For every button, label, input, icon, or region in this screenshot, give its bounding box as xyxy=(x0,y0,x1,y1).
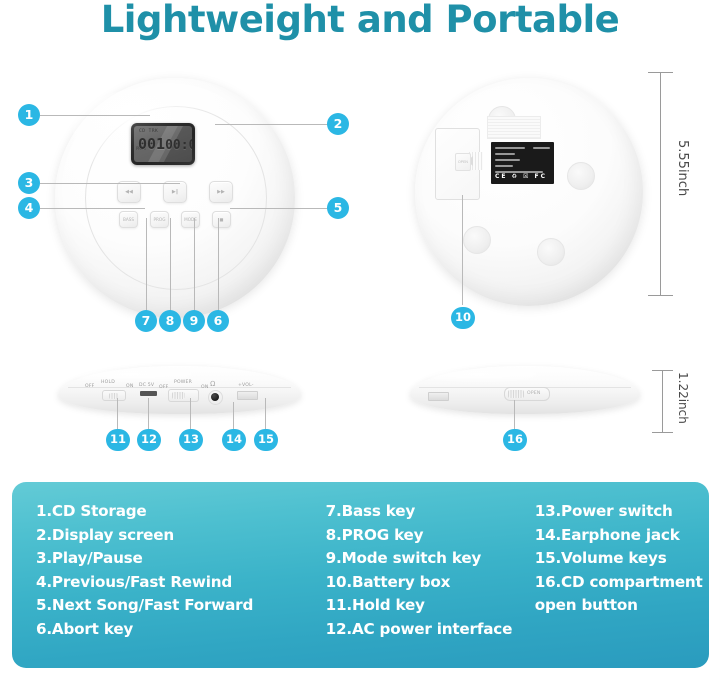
callout-4[interactable]: 4 xyxy=(18,197,40,219)
leader-line-5 xyxy=(230,208,330,209)
side-view-open-button: OPEN xyxy=(410,366,640,414)
spec-label-line-2 xyxy=(495,153,515,155)
dimension-line-thickness xyxy=(662,370,663,432)
leader-line-2 xyxy=(215,124,335,125)
leader-line-11 xyxy=(117,398,118,430)
dimension-label-thickness: 1.22inch xyxy=(676,372,690,424)
legend-item: 14.Earphone jack xyxy=(535,524,709,548)
power-switch-knob[interactable] xyxy=(172,392,185,399)
dimension-tick-bottom xyxy=(648,295,673,296)
legend-item: 9.Mode switch key xyxy=(326,547,535,571)
foot-pad-bottom xyxy=(537,238,565,266)
callout-14[interactable]: 14 xyxy=(222,429,246,451)
callout-15[interactable]: 15 xyxy=(254,429,278,451)
front-view-illustration: CD TRK PROG 00100:00 ◀◀ ▶‖ ▶▶ BASS PROG … xyxy=(55,78,295,318)
callout-8[interactable]: 8 xyxy=(159,310,181,332)
leader-line-12 xyxy=(148,398,149,430)
leader-line-9 xyxy=(194,218,195,313)
legend-item: 16.CD compartment open button xyxy=(535,571,709,618)
callout-13[interactable]: 13 xyxy=(179,429,203,451)
label-power-on: ON xyxy=(201,385,208,390)
button-previous-fast-rewind[interactable]: ◀◀ xyxy=(117,181,141,203)
legend-item: 6.Abort key xyxy=(36,618,326,642)
button-prog[interactable]: PROG xyxy=(150,211,169,228)
leader-line-3 xyxy=(40,183,180,184)
lcd-screen: CD TRK PROG 00100:00 xyxy=(134,126,192,162)
dimension-line-height xyxy=(660,72,661,296)
legend-item: 4.Previous/Fast Rewind xyxy=(36,571,326,595)
label-hold: HOLD xyxy=(101,380,115,385)
leader-line-1 xyxy=(40,115,150,116)
leader-line-4 xyxy=(40,208,145,209)
hold-switch[interactable] xyxy=(102,390,126,401)
callout-3[interactable]: 3 xyxy=(18,172,40,194)
infographic-page: Lightweight and Portable CD TRK PROG 001… xyxy=(0,0,720,680)
dimension-tick-top xyxy=(648,72,673,73)
legend-item: 13.Power switch xyxy=(535,500,709,524)
spec-label-line-1b xyxy=(533,147,550,149)
legend-item: 5.Next Song/Fast Forward xyxy=(36,594,326,618)
button-play-pause[interactable]: ▶‖ xyxy=(163,181,187,203)
callout-2[interactable]: 2 xyxy=(327,113,349,135)
back-view-illustration: OPEN CE ♻ ☒ FC xyxy=(415,78,643,306)
cd-open-slider[interactable]: OPEN xyxy=(504,387,550,401)
lcd-time: 00:00 xyxy=(165,138,192,153)
dimension-tick-top-2 xyxy=(652,370,673,371)
legend-item: 12.AC power interface xyxy=(326,618,535,642)
legend-item: 15.Volume keys xyxy=(535,547,709,571)
label-open: OPEN xyxy=(527,391,541,396)
leader-line-16 xyxy=(514,400,515,430)
side2-usb-port[interactable] xyxy=(428,392,449,401)
callout-5[interactable]: 5 xyxy=(327,197,349,219)
dimension-label-diameter: 5.55inch xyxy=(675,140,690,196)
spec-label-line-1 xyxy=(495,147,525,149)
legend-column-1: 1.CD Storage 2.Display screen 3.Play/Pau… xyxy=(12,500,326,668)
label-power: POWER xyxy=(174,380,192,385)
legend-item: 3.Play/Pause xyxy=(36,547,326,571)
callout-1[interactable]: 1 xyxy=(18,104,40,126)
button-bass[interactable]: BASS xyxy=(119,211,138,228)
certification-symbols: CE ♻ ☒ FC xyxy=(495,173,547,180)
leader-line-10 xyxy=(462,195,463,305)
legend-column-2: 7.Bass key 8.PROG key 9.Mode switch key … xyxy=(326,500,535,668)
earphone-jack[interactable] xyxy=(211,393,219,401)
foot-pad-right xyxy=(567,162,595,190)
legend-item: 7.Bass key xyxy=(326,500,535,524)
button-mode[interactable]: MODE xyxy=(181,211,200,228)
leader-line-15 xyxy=(265,398,266,430)
foot-pad-left xyxy=(463,226,491,254)
headphone-icon: Ω xyxy=(210,380,215,388)
page-title: Lightweight and Portable xyxy=(0,0,720,41)
battery-latch[interactable]: OPEN xyxy=(455,153,471,171)
spec-label: CE ♻ ☒ FC xyxy=(491,142,554,184)
lcd-top-indicator: CD TRK xyxy=(139,129,158,134)
callout-10[interactable]: 10 xyxy=(451,307,475,329)
legend-item: 1.CD Storage xyxy=(36,500,326,524)
lcd-readout: 00100:00 xyxy=(138,135,192,153)
label-power-off: OFF xyxy=(159,385,169,390)
legend-columns: 1.CD Storage 2.Display screen 3.Play/Pau… xyxy=(12,500,709,668)
battery-compartment[interactable]: OPEN xyxy=(435,128,480,200)
legend-item: 2.Display screen xyxy=(36,524,326,548)
legend-item: 11.Hold key xyxy=(326,594,535,618)
leader-line-8 xyxy=(170,218,171,313)
legend-column-3: 13.Power switch 14.Earphone jack 15.Volu… xyxy=(535,500,709,668)
legend-item: 8.PROG key xyxy=(326,524,535,548)
spec-label-line-4 xyxy=(495,165,513,167)
leader-line-6 xyxy=(218,218,219,313)
dimension-tick-bottom-2 xyxy=(652,432,673,433)
side-seam-1 xyxy=(68,387,292,388)
leader-line-7 xyxy=(146,218,147,313)
power-switch[interactable] xyxy=(168,389,199,402)
lcd-display: CD TRK PROG 00100:00 xyxy=(131,123,195,165)
callout-12[interactable]: 12 xyxy=(137,429,161,451)
label-hold-off: OFF xyxy=(85,384,95,389)
spec-label-line-3 xyxy=(495,159,520,161)
callout-11[interactable]: 11 xyxy=(106,429,130,451)
button-next-fast-forward[interactable]: ▶▶ xyxy=(209,181,233,203)
cd-open-slider-grip[interactable] xyxy=(508,390,524,398)
callout-9[interactable]: 9 xyxy=(183,310,205,332)
callout-7[interactable]: 7 xyxy=(135,310,157,332)
lcd-track-number: 001 xyxy=(138,135,165,153)
leader-line-13 xyxy=(190,398,191,430)
label-hold-on: ON xyxy=(126,384,133,389)
volume-usb-port[interactable] xyxy=(237,391,258,400)
legend-panel: 1.CD Storage 2.Display screen 3.Play/Pau… xyxy=(12,482,709,668)
callout-6[interactable]: 6 xyxy=(207,310,229,332)
leader-line-14 xyxy=(233,402,234,430)
vent-grille xyxy=(487,116,541,139)
label-volume: +VOL- xyxy=(238,383,254,388)
label-dc-5v: DC 5V xyxy=(139,383,154,388)
legend-item: 10.Battery box xyxy=(326,571,535,595)
button-abort[interactable]: ■ xyxy=(212,211,231,228)
callout-16[interactable]: 16 xyxy=(503,429,527,451)
dc-power-port[interactable] xyxy=(140,391,157,396)
